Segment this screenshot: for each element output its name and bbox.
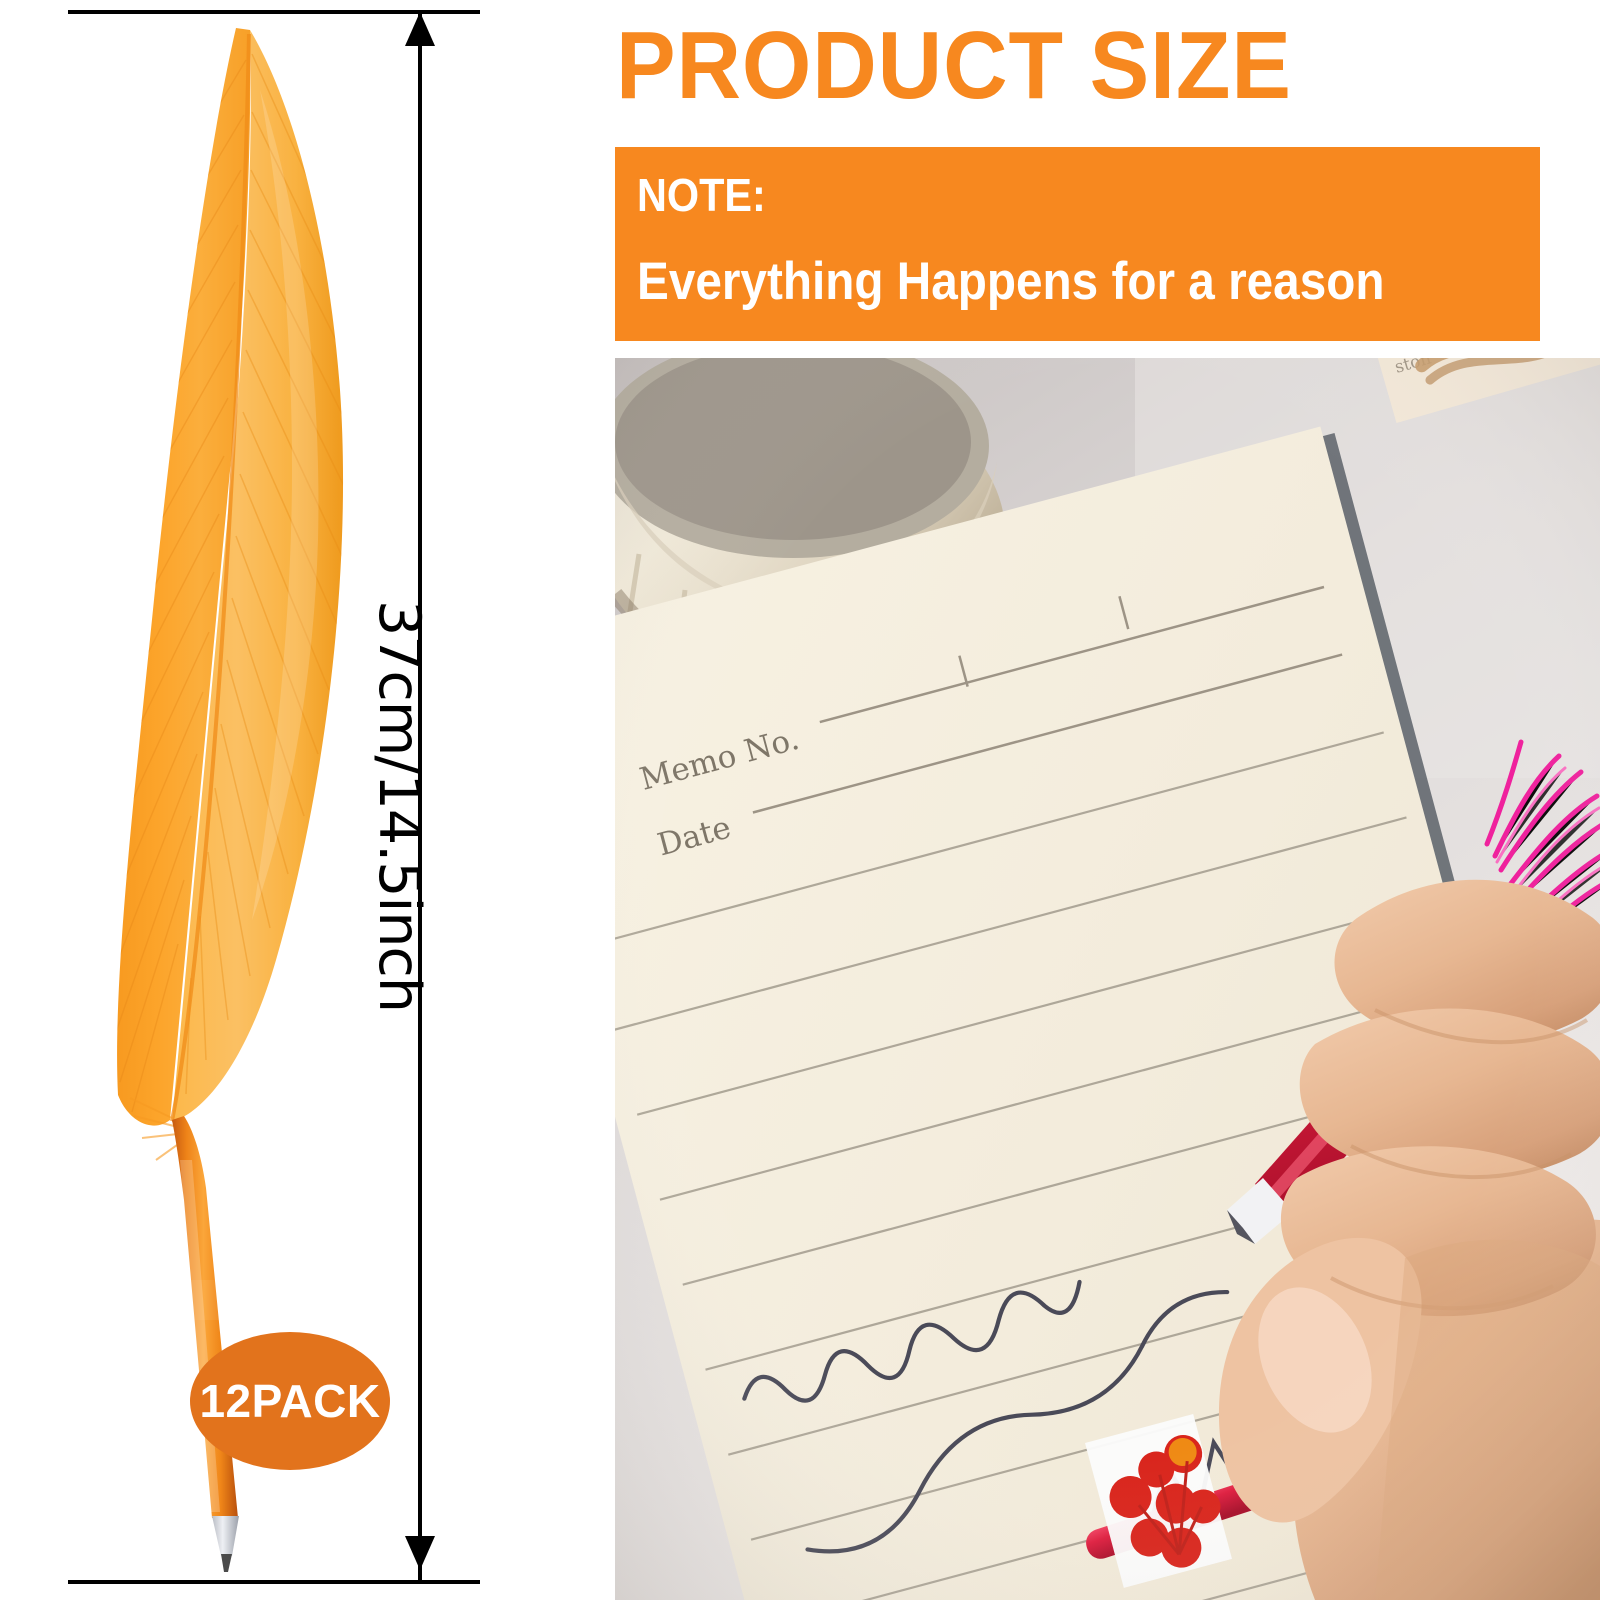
dimension-label: 37cm/14.5inch [366, 600, 432, 960]
pack-count-label: 12PACK [199, 1374, 380, 1428]
lifestyle-photo: stonyour finou [615, 358, 1600, 1600]
product-size-infographic: 37cm/14.5inch 12PACK PRODUCT SIZE NOTE: … [0, 0, 1600, 1600]
dimension-arrow-down-icon [405, 1536, 435, 1570]
note-banner: NOTE: Everything Happens for a reason [615, 147, 1540, 341]
page-title: PRODUCT SIZE [616, 14, 1453, 118]
dimension-arrow-up-icon [405, 12, 435, 46]
left-size-panel: 37cm/14.5inch 12PACK [0, 0, 600, 1600]
right-info-panel: PRODUCT SIZE NOTE: Everything Happens fo… [615, 0, 1600, 1600]
note-message: Everything Happens for a reason [637, 252, 1385, 312]
pack-count-badge: 12PACK [190, 1332, 390, 1470]
note-kicker-label: NOTE: [637, 169, 766, 221]
